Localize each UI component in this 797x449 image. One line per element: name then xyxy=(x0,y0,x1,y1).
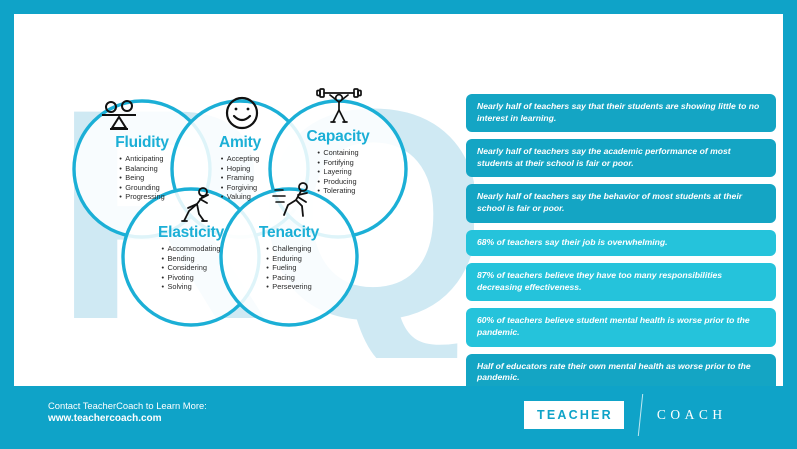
smiley-face-icon xyxy=(219,96,265,130)
stat-box: 68% of teachers say their job is overwhe… xyxy=(466,230,776,257)
list-item: Fortifying xyxy=(317,158,358,168)
venn-title-capacity: Capacity xyxy=(273,128,403,145)
list-item: Producing xyxy=(317,177,358,187)
list-item: Tolerating xyxy=(317,186,358,196)
list-item: Containing xyxy=(317,148,358,158)
venn-title-tenacity: Tenacity xyxy=(224,224,354,241)
footer-contact-line: Contact TeacherCoach to Learn More: xyxy=(48,399,207,412)
list-item: Pivoting xyxy=(162,273,221,283)
balance-scale-icon xyxy=(96,98,142,132)
venn-label-capacity: Capacity Containing Fortifying Layering … xyxy=(273,128,403,198)
list-item: Solving xyxy=(162,282,221,292)
list-item: Progressing xyxy=(119,192,164,202)
stat-box: Nearly half of teachers say the behavior… xyxy=(466,184,776,222)
list-item: Pacing xyxy=(266,273,311,283)
stat-box: Nearly half of teachers say that their s… xyxy=(466,94,776,132)
list-item: Considering xyxy=(162,263,221,273)
footer-contact: Contact TeacherCoach to Learn More: www.… xyxy=(48,399,207,426)
venn-items-fluidity: Anticipating Balancing Being Grounding P… xyxy=(119,154,164,202)
venn-label-tenacity: Tenacity Challenging Enduring Fueling Pa… xyxy=(224,224,354,294)
list-item: Forgiving xyxy=(221,183,259,193)
logo-coach-word: COACH xyxy=(657,407,727,423)
stat-box: 60% of teachers believe student mental h… xyxy=(466,308,776,346)
stat-box: Half of educators rate their own mental … xyxy=(466,354,776,386)
statistics-list: Nearly half of teachers say that their s… xyxy=(466,94,776,386)
footer-website-link[interactable]: www.teachercoach.com xyxy=(48,412,207,426)
venn-items-tenacity: Challenging Enduring Fueling Pacing Pers… xyxy=(266,244,311,292)
list-item: Fueling xyxy=(266,263,311,273)
infographic-page: RQ xyxy=(0,0,797,449)
list-item: Accepting xyxy=(221,154,259,164)
list-item: Challenging xyxy=(266,244,311,254)
weightlifter-icon xyxy=(316,90,362,124)
stat-box: Nearly half of teachers say the academic… xyxy=(466,139,776,177)
venn-items-amity: Accepting Hoping Framing Forgiving Valui… xyxy=(221,154,259,202)
list-item: Bending xyxy=(162,254,221,264)
list-item: Grounding xyxy=(119,183,164,193)
list-item: Balancing xyxy=(119,164,164,174)
list-item: Accommodating xyxy=(162,244,221,254)
list-item: Anticipating xyxy=(119,154,164,164)
venn-diagram: Fluidity Anticipating Balancing Being Gr… xyxy=(44,72,454,372)
list-item: Persevering xyxy=(266,282,311,292)
list-item: Being xyxy=(119,173,164,183)
list-item: Valuing xyxy=(221,192,259,202)
list-item: Enduring xyxy=(266,254,311,264)
stat-box: 87% of teachers believe they have too ma… xyxy=(466,263,776,301)
content-canvas: RQ xyxy=(14,14,783,386)
footer-bar: Contact TeacherCoach to Learn More: www.… xyxy=(0,386,797,449)
list-item: Framing xyxy=(221,173,259,183)
venn-items-capacity: Containing Fortifying Layering Producing… xyxy=(317,148,358,196)
teachercoach-logo[interactable]: TEACHER COACH xyxy=(524,398,727,432)
list-item: Hoping xyxy=(221,164,259,174)
logo-teacher-word: TEACHER xyxy=(524,401,624,429)
list-item: Layering xyxy=(317,167,358,177)
venn-items-elasticity: Accommodating Bending Considering Pivoti… xyxy=(162,244,221,292)
logo-divider xyxy=(638,394,643,436)
